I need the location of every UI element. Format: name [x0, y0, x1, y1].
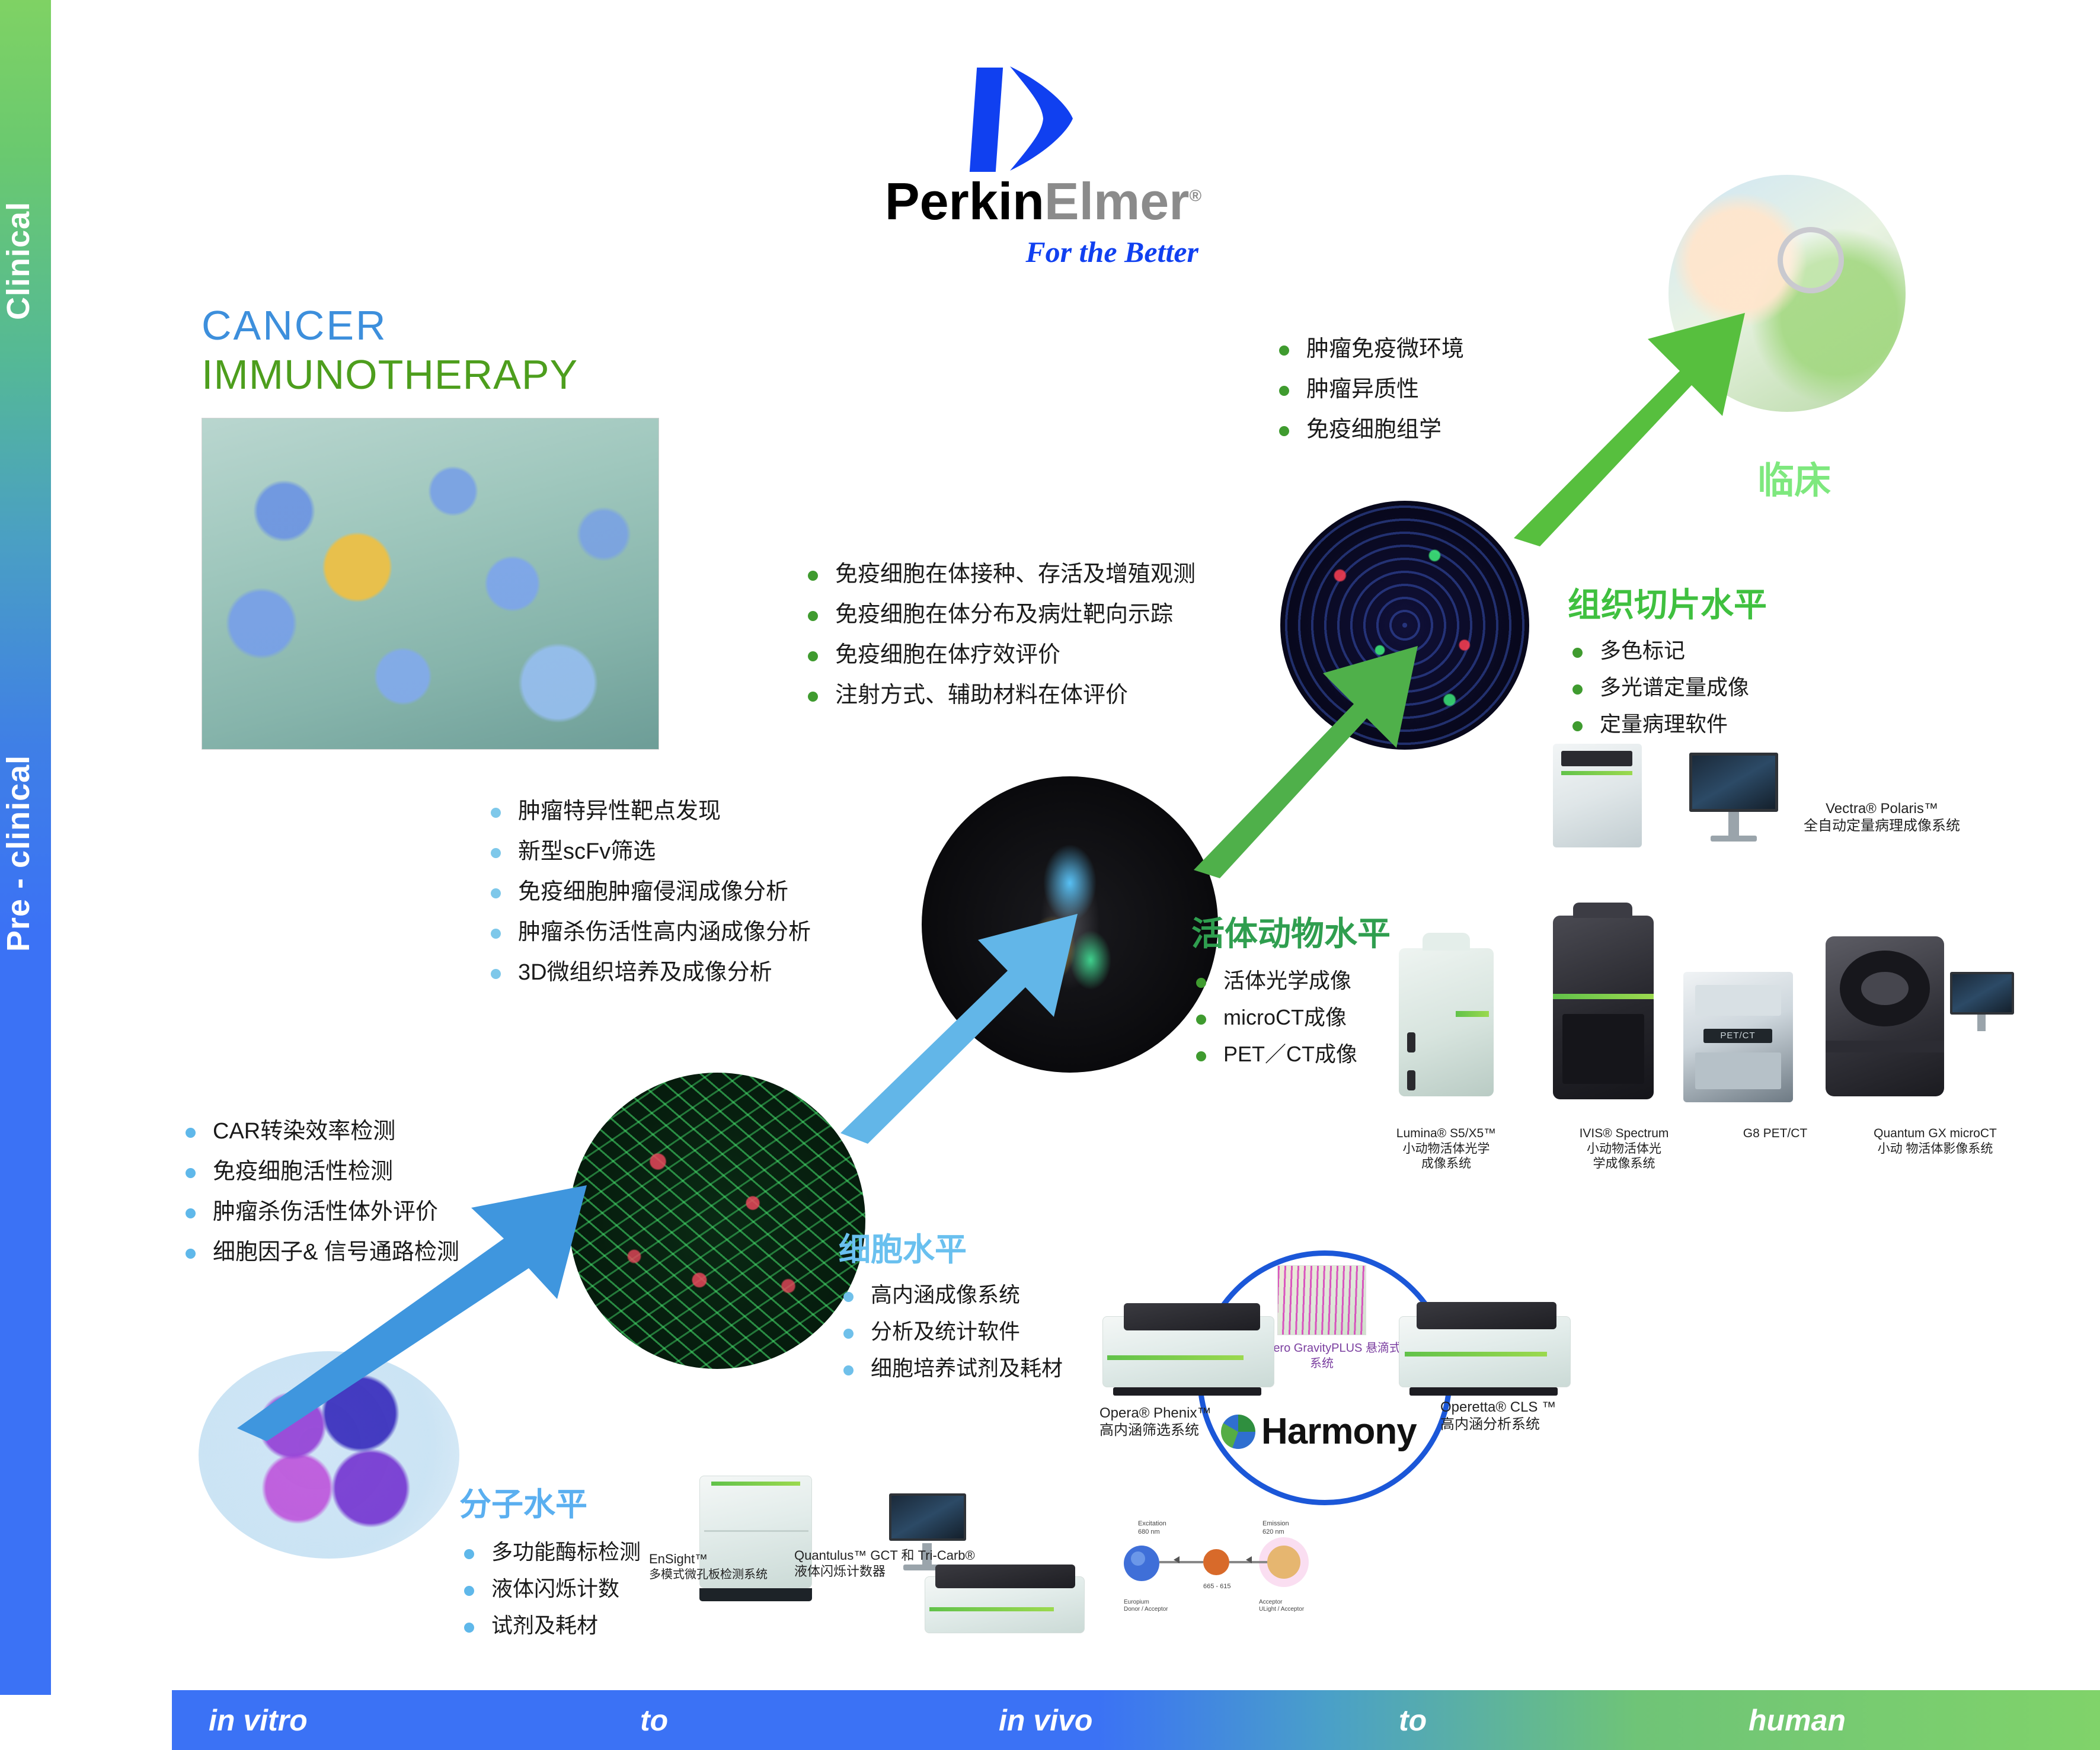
list-item: 免疫细胞活性检测	[181, 1160, 459, 1183]
list-item: 免疫细胞肿瘤侵润成像分析	[486, 881, 811, 903]
svg-text:Emission: Emission	[1262, 1520, 1289, 1527]
list-item: 免疫细胞在体接种、存活及增殖观测	[803, 563, 1196, 586]
logo-wing-icon	[1009, 65, 1074, 172]
svg-text:Donor / Acceptor: Donor / Acceptor	[1124, 1606, 1168, 1612]
opera-caption: Opera® Phenix™ 高内涵筛选系统	[1099, 1405, 1265, 1439]
ivis-caption: IVIS® Spectrum 小动物活体光 学成像系统	[1541, 1126, 1707, 1172]
arrow-cell-to-invivo	[830, 901, 1085, 1150]
operetta-caption-en: Operetta® CLS ™	[1440, 1399, 1618, 1416]
brand-elmer: Elmer	[1044, 172, 1190, 231]
lumina-caption-cn1: 小动物活体光学	[1357, 1141, 1535, 1157]
g8-caption: G8 PET/CT	[1716, 1126, 1834, 1141]
lumina-caption-cn2: 成像系统	[1357, 1156, 1535, 1172]
opera-phenix-device	[1102, 1301, 1280, 1402]
footer-step-to-1: to	[640, 1703, 668, 1738]
molecular-level-bullet-list: 多功能酶标检测 液体闪烁计数 试剂及耗材	[459, 1541, 641, 1636]
operetta-caption: Operetta® CLS ™ 高内涵分析系统	[1440, 1399, 1618, 1434]
list-item: CAR转染效率检测	[181, 1120, 459, 1143]
list-item: microCT成像	[1191, 1007, 1391, 1028]
ivis-device	[1553, 916, 1654, 1099]
list-item: 分析及统计软件	[839, 1321, 1063, 1342]
list-item: 定量病理软件	[1568, 714, 1767, 735]
list-item: 多光谱定量成像	[1568, 677, 1767, 698]
list-item: 多色标记	[1568, 640, 1767, 661]
perkinelmer-logo: PerkinElmer® For the Better	[877, 65, 1209, 273]
svg-text:620 nm: 620 nm	[1262, 1528, 1284, 1535]
list-item: 注射方式、辅助材料在体评价	[803, 684, 1196, 706]
brand-tagline: For the Better	[877, 235, 1209, 269]
svg-text:680 nm: 680 nm	[1138, 1528, 1160, 1535]
molecular-assay-bullet-list: CAR转染效率检测 免疫细胞活性检测 肿瘤杀伤活性体外评价 细胞因子& 信号通路…	[181, 1120, 459, 1281]
list-item: 多功能酶标检测	[459, 1541, 641, 1563]
list-item: 活体光学成像	[1191, 970, 1391, 991]
list-item: 液体闪烁计数	[459, 1578, 641, 1599]
vectra-caption: Vectra® Polaris™ 全自动定量病理成像系统	[1790, 800, 1974, 835]
ivis-caption-en: IVIS® Spectrum	[1541, 1126, 1707, 1141]
list-item: 肿瘤免疫微环境	[1274, 338, 1464, 360]
cell-section-title: 细胞水平	[839, 1233, 1063, 1268]
list-item: 免疫细胞在体分布及病灶靶向示踪	[803, 603, 1196, 626]
svg-text:ULight / Acceptor: ULight / Acceptor	[1259, 1606, 1305, 1612]
arrow-tissue-to-clinical	[1506, 302, 1754, 551]
rail-label-preclinical: Pre - clinical	[0, 699, 51, 1007]
brand-perkin: Perkin	[885, 172, 1044, 231]
list-item: PET／CT成像	[1191, 1044, 1391, 1065]
poster-canvas: Clinical Pre - clinical PerkinElmer® For…	[0, 0, 2100, 1750]
list-item: 免疫细胞在体疗效评价	[803, 644, 1196, 666]
magnifier-icon	[1778, 227, 1844, 293]
list-item: 3D微组织培养及成像分析	[486, 961, 811, 984]
molecular-section: 分子水平 多功能酶标检测 液体闪烁计数 试剂及耗材	[459, 1487, 641, 1652]
clinical-bullet-list: 肿瘤免疫微环境 肿瘤异质性 免疫细胞组学	[1274, 338, 1464, 459]
list-item: 肿瘤杀伤活性体外评价	[181, 1201, 459, 1223]
tissue-bullet-list: 多色标记 多光谱定量成像 定量病理软件	[1568, 640, 1767, 735]
footer-step-in-vitro: in vitro	[209, 1703, 308, 1738]
quantulus-caption-cn: 液体闪烁计数器	[794, 1564, 1031, 1580]
list-item: 细胞培养试剂及耗材	[839, 1358, 1063, 1379]
svg-text:665 - 615: 665 - 615	[1203, 1583, 1230, 1590]
cell-section: 细胞水平 高内涵成像系统 分析及统计软件 细胞培养试剂及耗材	[839, 1233, 1063, 1394]
vectra-workstation	[1689, 753, 1790, 850]
list-item: 肿瘤特异性靶点发现	[486, 800, 811, 823]
tissue-section: 组织切片水平 多色标记 多光谱定量成像 定量病理软件	[1568, 587, 1767, 750]
operetta-caption-cn: 高内涵分析系统	[1440, 1416, 1618, 1433]
svg-text:Excitation: Excitation	[1138, 1520, 1166, 1527]
rail-label-clinical: Clinical	[0, 136, 51, 385]
registered-mark: ®	[1189, 187, 1201, 205]
page-title: CANCER IMMUNOTHERAPY	[202, 301, 578, 399]
tissue-section-title: 组织切片水平	[1568, 587, 1767, 623]
animal-section-title: 活体动物水平	[1191, 916, 1391, 952]
workflow-footer-bar: in vitro to in vivo to human	[172, 1690, 2100, 1750]
list-item: 免疫细胞组学	[1274, 418, 1464, 441]
svg-text:Acceptor: Acceptor	[1259, 1599, 1283, 1605]
list-item: 高内涵成像系统	[839, 1284, 1063, 1306]
quantum-gx-device	[1826, 936, 1944, 1096]
cell-discovery-bullet-list: 肿瘤特异性靶点发现 新型scFv筛选 免疫细胞肿瘤侵润成像分析 肿瘤杀伤活性高内…	[486, 800, 811, 1002]
title-line-immunotherapy: IMMUNOTHERAPY	[202, 350, 578, 399]
insphero-photo	[1277, 1265, 1366, 1335]
vectra-polaris-device	[1553, 744, 1677, 847]
footer-step-in-vivo: in vivo	[999, 1703, 1092, 1738]
list-item: 新型scFv筛选	[486, 840, 811, 863]
quantum-caption-cn: 小动 物活体影像系统	[1837, 1141, 2033, 1157]
list-item: 细胞因子& 信号通路检测	[181, 1241, 459, 1263]
quantulus-caption: Quantulus™ GCT 和 Tri-Carb® 液体闪烁计数器	[794, 1548, 1031, 1580]
lumina-caption: Lumina® S5/X5™ 小动物活体光学 成像系统	[1357, 1126, 1535, 1172]
ivis-caption-cn2: 学成像系统	[1541, 1156, 1707, 1172]
animal-section: 活体动物水平 活体光学成像 microCT成像 PET／CT成像	[1191, 916, 1391, 1080]
brand-wordmark: PerkinElmer®	[877, 175, 1209, 228]
quantulus-caption-en: Quantulus™ GCT 和 Tri-Carb®	[794, 1548, 1031, 1564]
tcell-attack-photo	[202, 418, 659, 750]
opera-caption-cn: 高内涵筛选系统	[1099, 1422, 1265, 1439]
g8-caption-en: G8 PET/CT	[1716, 1126, 1834, 1141]
harmony-label: Harmony	[1261, 1410, 1417, 1453]
vectra-caption-en: Vectra® Polaris™	[1790, 800, 1974, 817]
molecular-section-title: 分子水平	[459, 1487, 641, 1522]
invivo-bullet-list: 免疫细胞在体接种、存活及增殖观测 免疫细胞在体分布及病灶靶向示踪 免疫细胞在体疗…	[803, 563, 1196, 724]
g8-petct-device: PET/CT	[1683, 972, 1793, 1102]
lumina-device	[1399, 948, 1494, 1096]
footer-step-to-2: to	[1399, 1703, 1427, 1738]
arrow-invivo-to-tissue	[1185, 634, 1423, 883]
quantum-caption: Quantum GX microCT 小动 物活体影像系统	[1837, 1126, 2033, 1156]
logo-mark	[960, 65, 1126, 172]
logo-bar-icon	[970, 68, 1003, 172]
title-line-cancer: CANCER	[202, 301, 578, 350]
ensight-device	[699, 1476, 818, 1606]
opera-caption-en: Opera® Phenix™	[1099, 1405, 1265, 1422]
quantum-gx-monitor	[1950, 972, 2021, 1043]
list-item: 肿瘤杀伤活性高内涵成像分析	[486, 921, 811, 943]
assay-molecule-diagram: Excitation 680 nm Emission 620 nm Europi…	[1114, 1505, 1322, 1612]
cell-bullet-list: 高内涵成像系统 分析及统计软件 细胞培养试剂及耗材	[839, 1284, 1063, 1379]
list-item: 试剂及耗材	[459, 1615, 641, 1636]
vectra-caption-cn: 全自动定量病理成像系统	[1790, 817, 1974, 834]
animal-bullet-list: 活体光学成像 microCT成像 PET／CT成像	[1191, 970, 1391, 1065]
operetta-cls-device	[1399, 1301, 1577, 1402]
lumina-caption-en: Lumina® S5/X5™	[1357, 1126, 1535, 1141]
svg-text:Europium: Europium	[1124, 1599, 1149, 1605]
quantum-caption-en: Quantum GX microCT	[1837, 1126, 2033, 1141]
clinical-stage-label: 临床	[1757, 450, 1831, 504]
footer-step-human: human	[1749, 1703, 1846, 1738]
ivis-caption-cn1: 小动物活体光	[1541, 1141, 1707, 1157]
cell-culture-circle-image	[569, 1073, 865, 1369]
list-item: 肿瘤异质性	[1274, 378, 1464, 401]
